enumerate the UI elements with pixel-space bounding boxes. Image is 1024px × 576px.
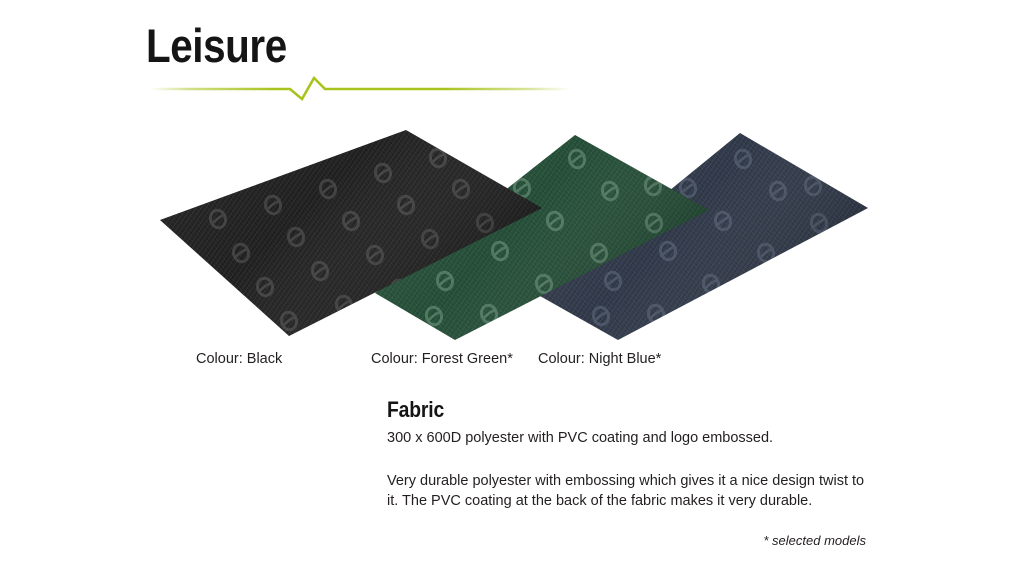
swatch-caption-night-blue: Colour: Night Blue* xyxy=(538,350,661,368)
fabric-heading: Fabric xyxy=(387,398,827,422)
swatch-caption-forest-green: Colour: Forest Green* xyxy=(371,350,513,368)
page-header: Leisure xyxy=(0,0,1024,115)
heartbeat-rule-icon xyxy=(150,76,570,104)
footnote-selected-models: * selected models xyxy=(763,532,866,549)
page-title: Leisure xyxy=(146,20,287,72)
swatch-caption-black: Colour: Black xyxy=(196,350,282,368)
fabric-info-block: Fabric 300 x 600D polyester with PVC coa… xyxy=(387,398,887,511)
fabric-description-text: Very durable polyester with embossing wh… xyxy=(387,471,877,511)
fabric-specification-text: 300 x 600D polyester with PVC coating an… xyxy=(387,428,877,448)
fabric-swatch-group xyxy=(0,118,1024,343)
